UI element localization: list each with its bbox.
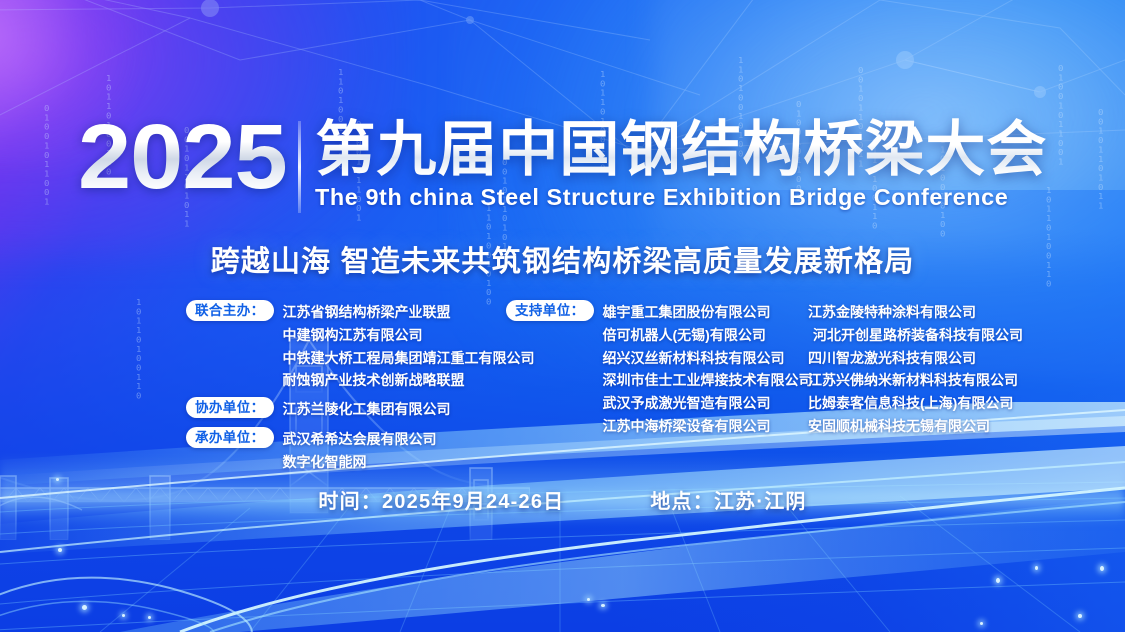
co-organizer-label: 协办单位： bbox=[186, 397, 274, 418]
banner-content: 2025 第九届中国钢结构桥梁大会 The 9th china Steel St… bbox=[0, 0, 1125, 632]
organizers-left-column: 联合主办： 江苏省钢结构桥梁产业联盟 中建钢构江苏有限公司 中铁建大桥工程局集团… bbox=[186, 300, 535, 474]
conference-title-en: The 9th china Steel Structure Exhibition… bbox=[315, 184, 1043, 211]
co-organizer-names: 江苏兰陵化工集团有限公司 bbox=[283, 397, 451, 421]
event-place: 地点：江苏·江阴 bbox=[650, 485, 806, 514]
supporter-name: 江苏兴佛纳米新材料科技有限公司 bbox=[808, 369, 1023, 392]
joint-host-group: 联合主办： 江苏省钢结构桥梁产业联盟 中建钢构江苏有限公司 中铁建大桥工程局集团… bbox=[186, 300, 535, 392]
undertaker-group: 承办单位： 武汉希希达会展有限公司 数字化智能网 bbox=[186, 427, 535, 474]
supporter-name: 倍可机器人(无锡)有限公司 bbox=[603, 324, 813, 347]
undertaker-names: 武汉希希达会展有限公司 数字化智能网 bbox=[283, 427, 437, 474]
organizer-name: 数字化智能网 bbox=[283, 451, 437, 474]
title-stack: 第九届中国钢结构桥梁大会 The 9th china Steel Structu… bbox=[315, 118, 1047, 211]
event-time: 时间：2025年9月24-26日 bbox=[318, 485, 564, 514]
organizer-name: 武汉希希达会展有限公司 bbox=[283, 428, 437, 451]
joint-host-names: 江苏省钢结构桥梁产业联盟 中建钢构江苏有限公司 中铁建大桥工程局集团靖江重工有限… bbox=[283, 300, 535, 392]
supporter-name: 雄宇重工集团股份有限公司 bbox=[603, 301, 813, 324]
year-2025: 2025 bbox=[78, 118, 303, 197]
supporters-right-column: 江苏金陵特种涂料有限公司 河北开创星路桥装备科技有限公司 四川智龙激光科技有限公… bbox=[808, 300, 1023, 438]
supporters-label: 支持单位： bbox=[506, 300, 594, 321]
conference-subtitle: 跨越山海 智造未来共筑钢结构桥梁高质量发展新格局 bbox=[0, 238, 1125, 280]
organizer-name: 中建钢构江苏有限公司 bbox=[283, 324, 535, 347]
organizer-name: 耐蚀钢产业技术创新战略联盟 bbox=[283, 369, 535, 392]
conference-title-cn: 第九届中国钢结构桥梁大会 bbox=[315, 118, 1047, 182]
organizer-name: 江苏省钢结构桥梁产业联盟 bbox=[283, 301, 535, 324]
supporter-name: 安固顺机械科技无锡有限公司 bbox=[808, 415, 1023, 438]
supporter-name: 河北开创星路桥装备科技有限公司 bbox=[808, 324, 1023, 347]
title-row: 2025 第九届中国钢结构桥梁大会 The 9th china Steel St… bbox=[0, 118, 1125, 213]
supporter-name: 武汉予成激光智造有限公司 bbox=[603, 392, 813, 415]
supporter-name: 江苏中海桥梁设备有限公司 bbox=[603, 415, 813, 438]
organizer-name: 江苏兰陵化工集团有限公司 bbox=[283, 398, 451, 421]
supporter-name: 江苏金陵特种涂料有限公司 bbox=[808, 301, 1023, 324]
supporter-name: 深圳市佳士工业焊接技术有限公司 bbox=[603, 369, 813, 392]
undertaker-label: 承办单位： bbox=[186, 427, 274, 448]
supporters-names-col1: 雄宇重工集团股份有限公司 倍可机器人(无锡)有限公司 绍兴汉丝新材料科技有限公司… bbox=[603, 300, 813, 438]
supporter-name: 绍兴汉丝新材料科技有限公司 bbox=[603, 347, 813, 370]
organizer-name: 中铁建大桥工程局集团靖江重工有限公司 bbox=[283, 347, 535, 370]
supporters-names-col2: 江苏金陵特种涂料有限公司 河北开创星路桥装备科技有限公司 四川智龙激光科技有限公… bbox=[808, 300, 1023, 438]
supporter-name: 比姆泰客信息科技(上海)有限公司 bbox=[808, 392, 1023, 415]
supporters-group: 支持单位： 雄宇重工集团股份有限公司 倍可机器人(无锡)有限公司 绍兴汉丝新材料… bbox=[506, 300, 813, 438]
footer-info: 时间：2025年9月24-26日 地点：江苏·江阴 bbox=[0, 485, 1125, 514]
supporters-middle-column: 支持单位： 雄宇重工集团股份有限公司 倍可机器人(无锡)有限公司 绍兴汉丝新材料… bbox=[506, 300, 813, 438]
joint-host-label: 联合主办： bbox=[186, 300, 274, 321]
organizers-section: 联合主办： 江苏省钢结构桥梁产业联盟 中建钢构江苏有限公司 中铁建大桥工程局集团… bbox=[0, 300, 1125, 450]
co-organizer-group: 协办单位： 江苏兰陵化工集团有限公司 bbox=[186, 397, 535, 421]
conference-banner: 0 1 0 0 1 0 1 1 0 0 1 1 0 1 1 0 1 0 0 1 … bbox=[0, 0, 1125, 632]
supporter-name: 四川智龙激光科技有限公司 bbox=[808, 347, 1023, 370]
